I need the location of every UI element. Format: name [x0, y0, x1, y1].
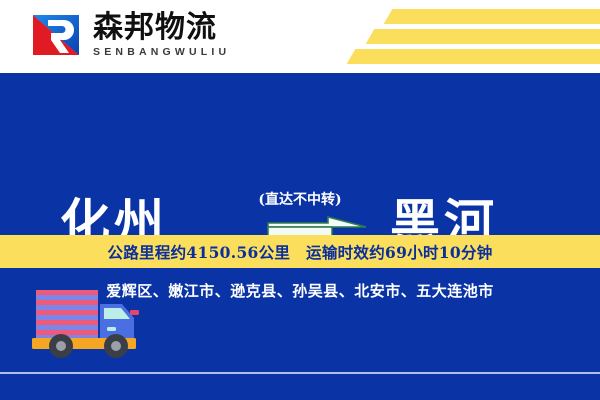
senbang-r-logo-icon — [28, 8, 84, 62]
route-info-text: 公路里程约4150.56公里 运输时效约69小时10分钟 — [107, 241, 492, 263]
delivery-truck-icon — [26, 282, 142, 364]
coverage-panel: 爱辉区、嫩江市、逊克县、孙吴县、北安市、五大连池市 — [0, 268, 600, 400]
logistics-route-banner: 森邦物流 SENBANGWULIU 化州 (直达不中转) — [0, 0, 600, 400]
brand-wordmark: 森邦物流 SENBANGWULIU — [93, 11, 230, 59]
bottom-divider — [0, 372, 600, 374]
brand-name-en: SENBANGWULIU — [93, 46, 230, 59]
route-panel: 化州 (直达不中转) 【往返运输】 黑河 — [0, 73, 600, 235]
brand-logo[interactable]: 森邦物流 SENBANGWULIU — [28, 8, 230, 62]
stripe-2 — [366, 29, 600, 44]
direct-route-note: (直达不中转) — [232, 191, 368, 209]
header: 森邦物流 SENBANGWULIU — [0, 0, 600, 73]
stripe-3 — [347, 49, 600, 64]
header-stripes-decoration — [332, 0, 600, 73]
brand-name-cn: 森邦物流 — [93, 11, 230, 45]
route-info-bar: 公路里程约4150.56公里 运输时效约69小时10分钟 — [0, 235, 600, 268]
stripe-1 — [384, 9, 600, 24]
